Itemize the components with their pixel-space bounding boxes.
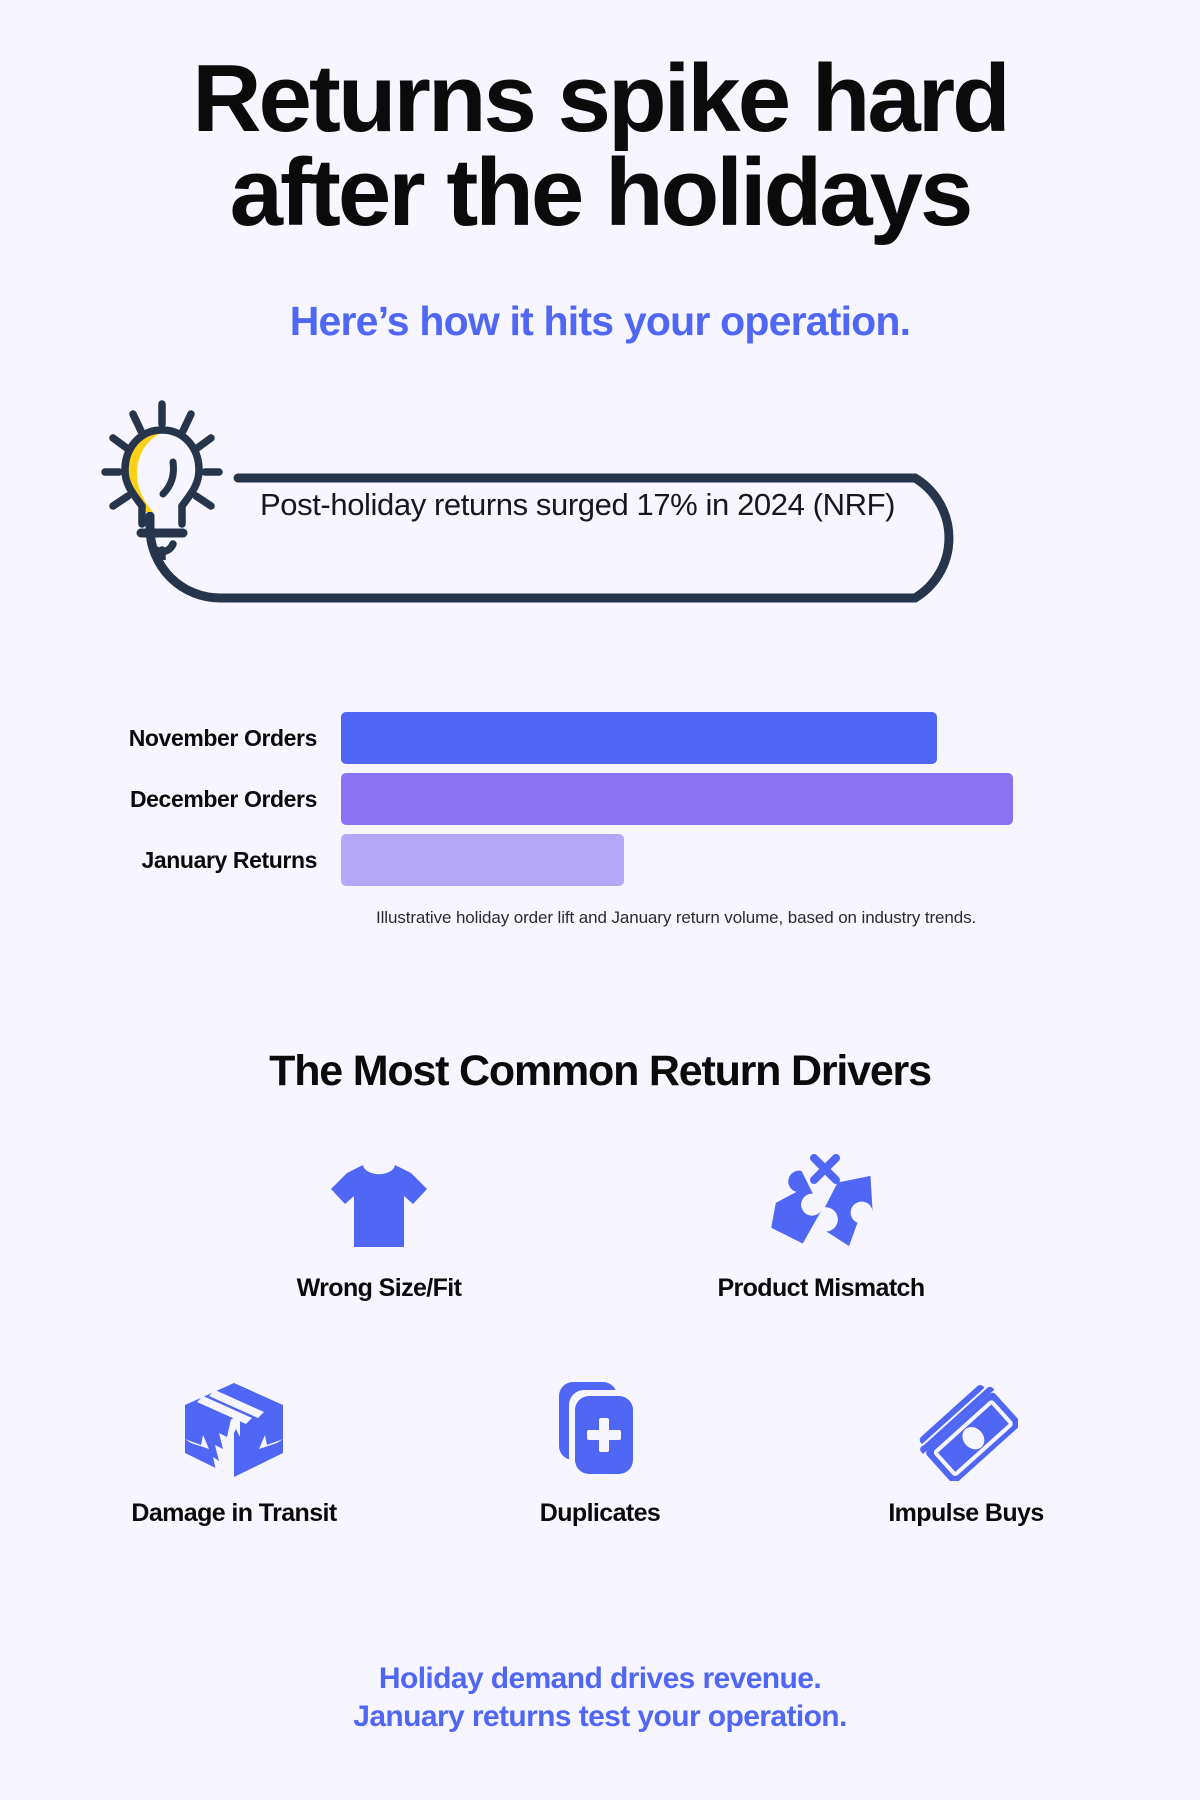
callout-text: Post-holiday returns surged 17% in 2024 …: [260, 486, 1060, 523]
footer-line-1: Holiday demand drives revenue.: [0, 1660, 1200, 1698]
footer-message: Holiday demand drives revenue. January r…: [0, 1660, 1200, 1737]
duplicate-cards-icon: [553, 1375, 647, 1485]
tshirt-icon: [327, 1150, 431, 1260]
driver-label: Duplicates: [540, 1499, 660, 1528]
page-title: Returns spike hard after the holidays: [0, 52, 1200, 240]
drivers-row-2: Damage in Transit Duplicates: [0, 1375, 1200, 1528]
infographic-page: Returns spike hard after the holidays He…: [0, 0, 1200, 1800]
driver-label: Damage in Transit: [131, 1499, 336, 1528]
table-row: January Returns: [95, 834, 1105, 886]
footer-line-2: January returns test your operation.: [0, 1698, 1200, 1736]
headline-line-1: Returns spike hard: [192, 45, 1008, 152]
table-row: December Orders: [95, 773, 1105, 825]
driver-damage-in-transit: Damage in Transit: [129, 1375, 339, 1528]
headline-line-2: after the holidays: [0, 146, 1200, 240]
bar-chart: November Orders December Orders January …: [95, 712, 1105, 928]
driver-label: Wrong Size/Fit: [297, 1274, 462, 1303]
chart-caption: Illustrative holiday order lift and Janu…: [376, 908, 1105, 928]
section-title-return-drivers: The Most Common Return Drivers: [0, 1047, 1200, 1096]
driver-duplicates: Duplicates: [495, 1375, 705, 1528]
drivers-row-1: Wrong Size/Fit Product Mismatch: [0, 1150, 1200, 1303]
bar-fill-december: [341, 773, 1013, 825]
bar-track-january: [341, 834, 1105, 886]
bar-label-december: December Orders: [95, 786, 341, 813]
driver-label: Product Mismatch: [717, 1274, 924, 1303]
table-row: November Orders: [95, 712, 1105, 764]
puzzle-mismatch-icon: [765, 1150, 877, 1260]
money-bills-icon: [914, 1375, 1018, 1485]
lightbulb-icon: [95, 400, 235, 560]
driver-product-mismatch: Product Mismatch: [716, 1150, 926, 1303]
damaged-box-icon: [179, 1375, 289, 1485]
bar-fill-november: [341, 712, 937, 764]
statistic-callout: Post-holiday returns surged 17% in 2024 …: [95, 400, 1105, 610]
bar-track-december: [341, 773, 1105, 825]
driver-impulse-buys: Impulse Buys: [861, 1375, 1071, 1528]
page-subtitle: Here’s how it hits your operation.: [0, 298, 1200, 345]
driver-label: Impulse Buys: [888, 1499, 1043, 1528]
driver-wrong-size-fit: Wrong Size/Fit: [274, 1150, 484, 1303]
bar-label-january: January Returns: [95, 847, 341, 874]
bar-fill-january: [341, 834, 624, 886]
bar-label-november: November Orders: [95, 725, 341, 752]
bar-track-november: [341, 712, 1105, 764]
